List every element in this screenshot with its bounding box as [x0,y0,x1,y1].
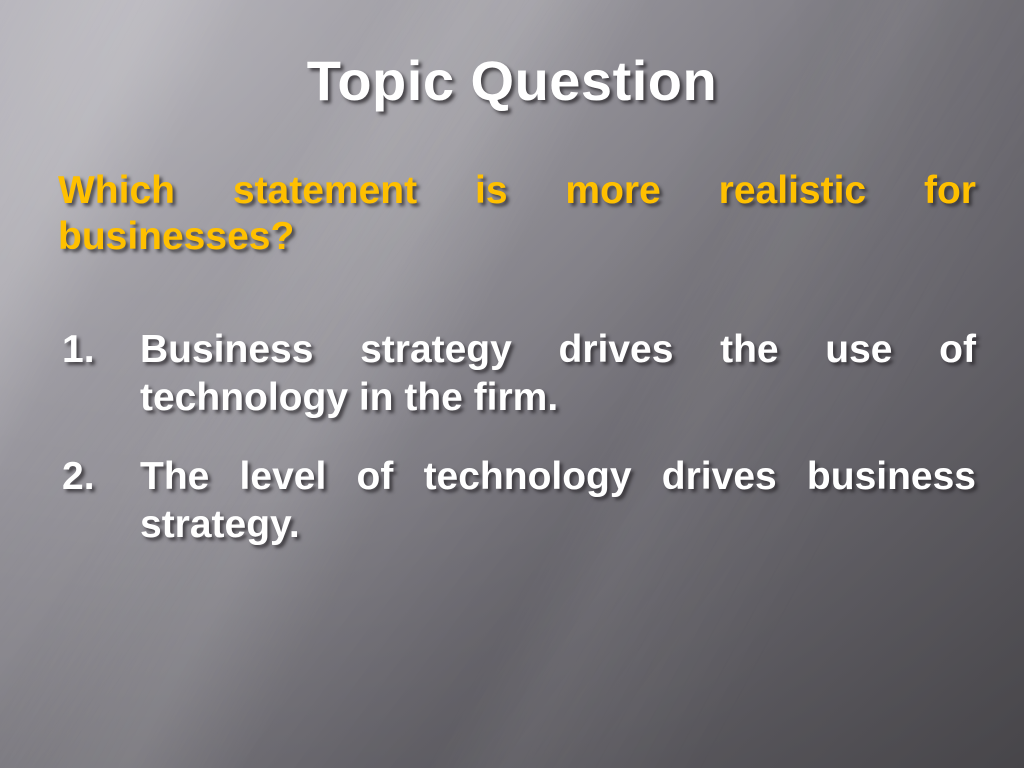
answer-option-2[interactable]: 2.The level of technology drives busines… [58,453,976,548]
answer-option-1[interactable]: 1.Business strategy drives the use of te… [58,326,976,421]
answer-options-list: 1.Business strategy drives the use of te… [58,326,976,548]
question-line-2: businesses? [58,215,294,258]
slide-content: Topic Question Which statement is more r… [0,0,1024,768]
answer-number-1: 1. [62,326,122,374]
answer-text-1: Business strategy drives the use of tech… [140,328,976,419]
slide-title: Topic Question [0,52,1024,111]
question-paragraph: Which statement is more realistic for bu… [58,168,976,260]
presentation-slide: Topic Question Which statement is more r… [0,0,1024,768]
slide-body: Which statement is more realistic for bu… [58,168,976,548]
answer-text-2: The level of technology drives business … [140,455,976,546]
question-line-1: Which statement is more realistic for [58,169,976,212]
answer-number-2: 2. [62,453,122,501]
